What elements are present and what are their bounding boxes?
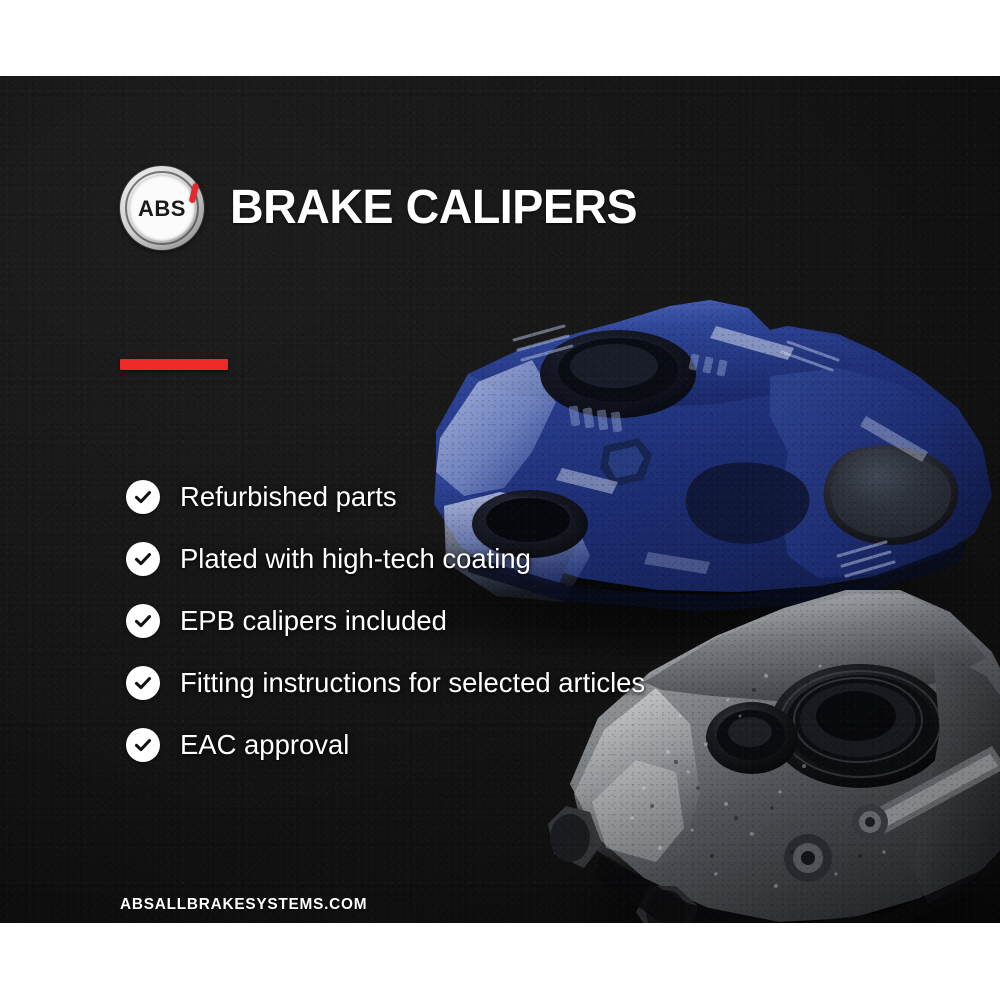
dark-panel: ABS BRAKE CALIPERS Refurbished parts bbox=[0, 76, 1000, 923]
list-item: Refurbished parts bbox=[126, 466, 655, 528]
logo-text: ABS bbox=[138, 198, 186, 220]
feature-label: EAC approval bbox=[180, 731, 349, 759]
check-circle-icon bbox=[126, 604, 160, 638]
grey-caliper-shadow bbox=[560, 836, 1000, 923]
check-circle-icon bbox=[126, 666, 160, 700]
website-url: ABSALLBRAKESYSTEMS.COM bbox=[120, 896, 367, 914]
header: ABS BRAKE CALIPERS bbox=[120, 166, 650, 250]
list-item: Fitting instructions for selected articl… bbox=[126, 652, 655, 714]
feature-list: Refurbished parts Plated with high-tech … bbox=[126, 466, 655, 776]
check-circle-icon bbox=[126, 480, 160, 514]
list-item: EPB calipers included bbox=[126, 590, 655, 652]
abs-logo: ABS bbox=[120, 166, 204, 250]
list-item: Plated with high-tech coating bbox=[126, 528, 655, 590]
feature-label: Refurbished parts bbox=[180, 483, 397, 511]
list-item: EAC approval bbox=[126, 714, 655, 776]
check-circle-icon bbox=[126, 728, 160, 762]
feature-label: EPB calipers included bbox=[180, 607, 447, 635]
check-circle-icon bbox=[126, 542, 160, 576]
red-accent-bar bbox=[120, 359, 228, 370]
feature-label: Fitting instructions for selected articl… bbox=[180, 669, 645, 697]
feature-label: Plated with high-tech coating bbox=[180, 545, 531, 573]
promo-banner: ABS BRAKE CALIPERS Refurbished parts bbox=[0, 0, 1000, 1000]
page-title: BRAKE CALIPERS bbox=[230, 184, 637, 232]
